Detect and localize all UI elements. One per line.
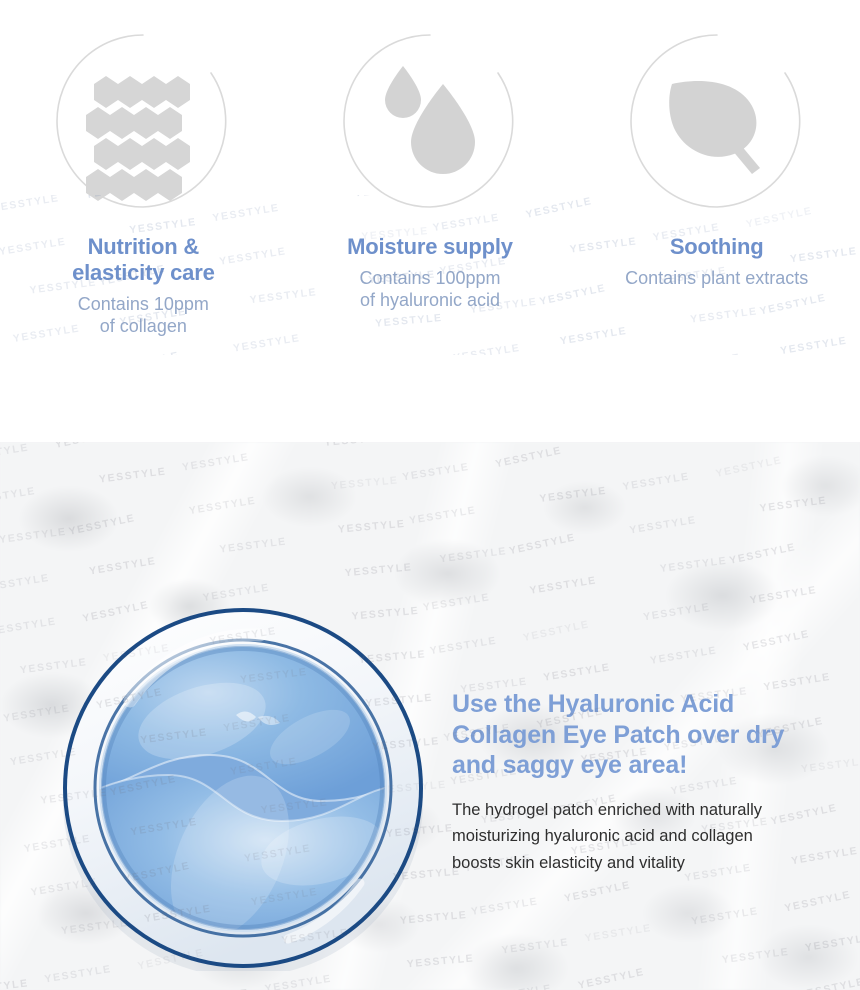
features-row: Nutrition & elasticity care Contains 10p… <box>0 0 860 360</box>
hero-copy-block: Use the Hyaluronic Acid Collagen Eye Pat… <box>452 689 844 877</box>
product-detail-page: Nutrition & elasticity care Contains 10p… <box>0 0 860 990</box>
feature-soothing: Soothing Contains plant extracts <box>573 0 860 360</box>
product-jar-image <box>60 605 426 971</box>
feature-title: Moisture supply <box>347 234 513 260</box>
leaf-icon <box>628 32 806 210</box>
feature-description: Contains 100ppm of hyaluronic acid <box>359 268 500 312</box>
feature-description: Contains plant extracts <box>625 268 808 290</box>
feature-moisture-supply: Moisture supply Contains 100ppm of hyalu… <box>287 0 574 360</box>
collagen-wave-icon <box>54 32 232 210</box>
water-drop-icon <box>341 32 519 210</box>
feature-title: Nutrition & elasticity care <box>72 234 215 286</box>
feature-nutrition-elasticity: Nutrition & elasticity care Contains 10p… <box>0 0 287 360</box>
features-section: Nutrition & elasticity care Contains 10p… <box>0 0 860 442</box>
feature-description: Contains 10ppm of collagen <box>78 294 209 338</box>
feature-title: Soothing <box>670 234 764 260</box>
hero-headline: Use the Hyaluronic Acid Collagen Eye Pat… <box>452 689 844 781</box>
hero-section: Use the Hyaluronic Acid Collagen Eye Pat… <box>0 442 860 990</box>
hero-body-text: The hydrogel patch enriched with natural… <box>452 797 844 877</box>
